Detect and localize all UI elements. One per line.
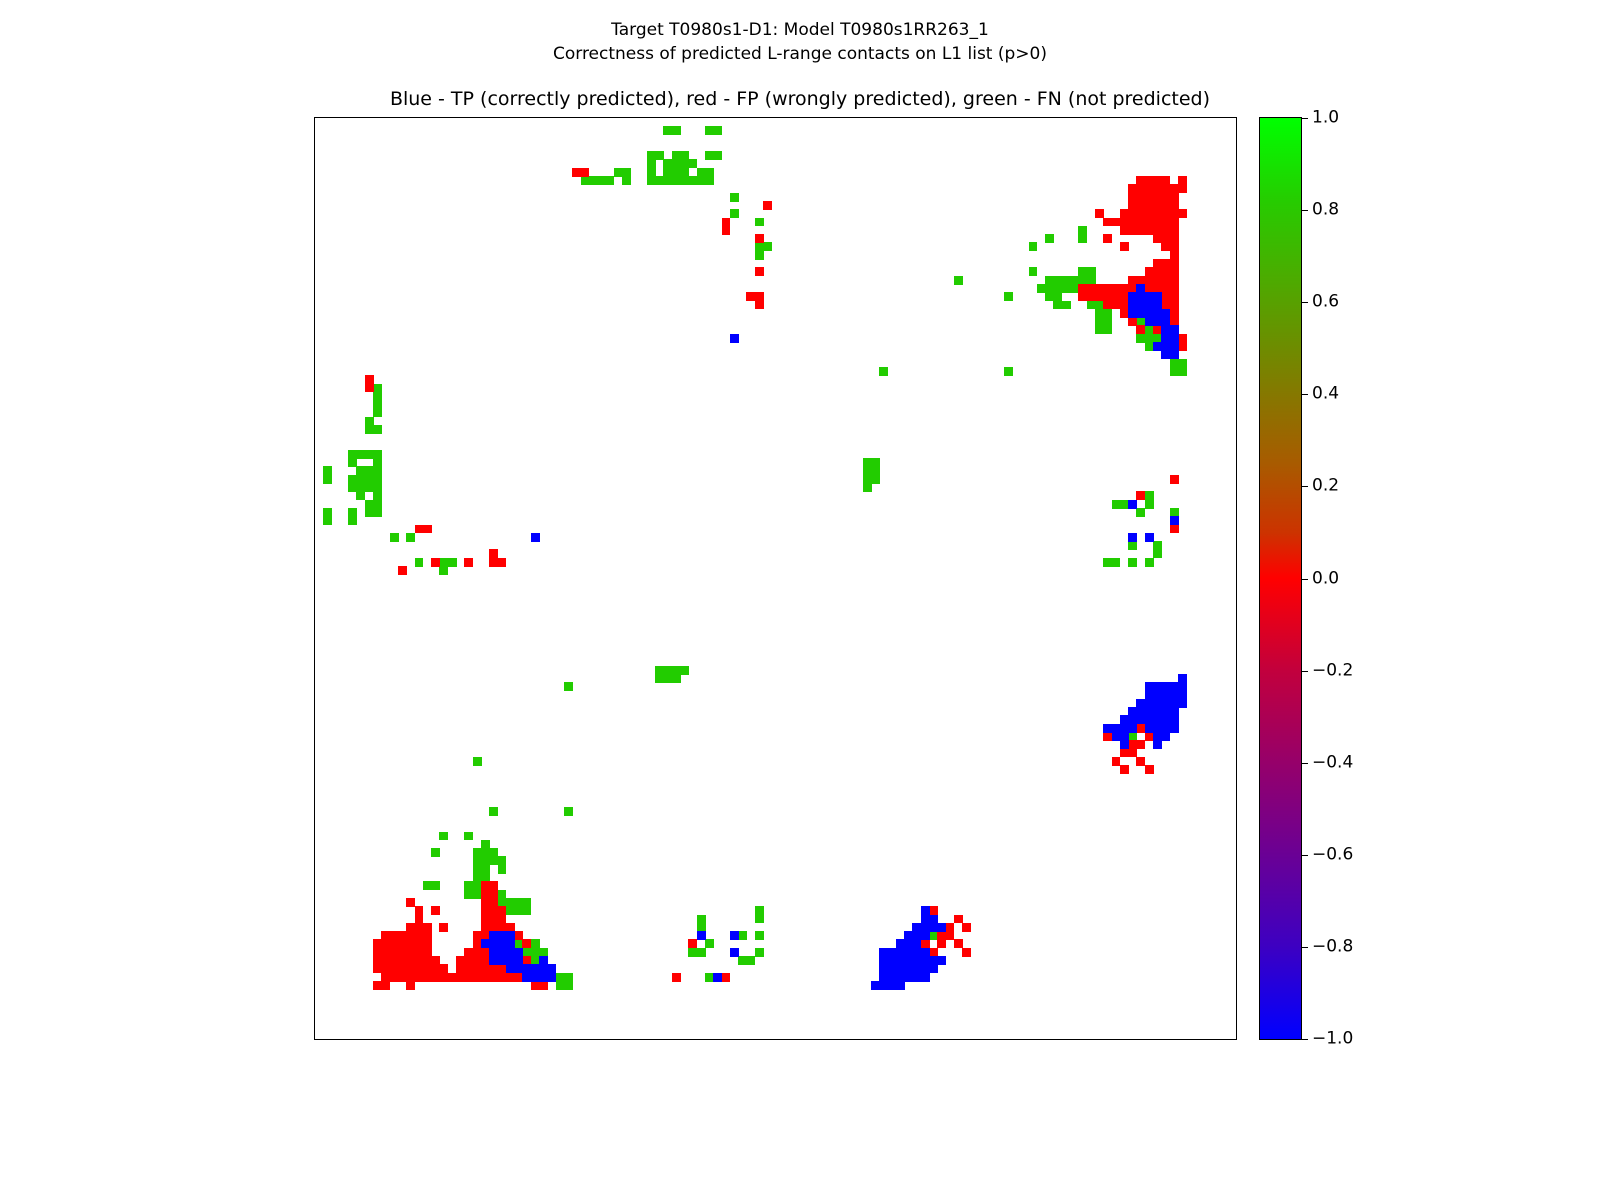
y-axis-tick-right [1236, 155, 1237, 156]
x-axis-tick-top [361, 117, 362, 118]
y-axis-tick [314, 711, 315, 712]
x-axis-tick-top [1165, 117, 1166, 118]
y-axis-tick-right [1236, 827, 1237, 828]
y-axis-tick [314, 139, 315, 140]
cell-tp-blue [730, 931, 739, 940]
colorbar-tick-label: −0.6 [1312, 846, 1353, 863]
y-axis-tick [314, 869, 315, 870]
x-axis-tick [477, 1039, 478, 1040]
x-axis-tick-top [917, 117, 918, 118]
cell-fn-green [365, 450, 374, 459]
y-axis-tick-right [1236, 479, 1237, 480]
cell-fp-red [1136, 491, 1145, 500]
cell-fp-red [672, 973, 681, 982]
cell-fn-green [473, 757, 482, 766]
y-axis-tick-right [1236, 529, 1237, 530]
x-axis-tick-top [551, 117, 552, 118]
x-axis-tick-top [1157, 117, 1158, 118]
x-axis-tick [1049, 1039, 1050, 1040]
colorbar-tick [1301, 763, 1308, 764]
y-axis-tick [314, 686, 315, 687]
cell-fn-green [373, 508, 382, 517]
y-axis-tick-right [1236, 686, 1237, 687]
cell-fp-red [1136, 325, 1145, 334]
x-axis-tick [850, 1039, 851, 1040]
x-axis-tick-top [435, 117, 436, 118]
x-axis-tick [585, 1039, 586, 1040]
cell-tp-blue [1128, 533, 1137, 542]
cell-fn-green [954, 276, 963, 285]
y-axis-tick [314, 861, 315, 862]
cell-fn-green [373, 425, 382, 434]
x-axis-tick-top [510, 117, 511, 118]
y-axis-tick [314, 944, 315, 945]
y-axis-tick [314, 968, 315, 969]
x-axis-tick-top [634, 117, 635, 118]
x-axis-tick [684, 1039, 685, 1040]
y-axis-tick [314, 263, 315, 264]
y-axis-tick-right [1236, 172, 1237, 173]
y-axis-tick [314, 786, 315, 787]
x-axis-tick [941, 1039, 942, 1040]
x-axis-tick-top [585, 117, 586, 118]
y-axis-tick [314, 321, 315, 322]
x-axis-tick [1024, 1039, 1025, 1040]
y-axis-tick-right [1236, 720, 1237, 721]
y-axis-tick-right [1236, 263, 1237, 264]
legend-subtitle: Blue - TP (correctly predicted), red - F… [0, 88, 1600, 110]
x-axis-tick [410, 1039, 411, 1040]
y-axis-tick [314, 454, 315, 455]
cell-fn-green [1170, 367, 1179, 376]
cell-fp-red [439, 923, 448, 932]
figure-root: Target T0980s1-D1: Model T0980s1RR263_1 … [0, 0, 1600, 1200]
x-axis-tick-top [427, 117, 428, 118]
x-axis-tick [717, 1039, 718, 1040]
y-axis-tick [314, 545, 315, 546]
y-axis-tick-right [1236, 852, 1237, 853]
x-axis-tick-top [1224, 117, 1225, 118]
x-axis-tick [510, 1039, 511, 1040]
cell-tp-blue [1128, 500, 1137, 509]
colorbar-tick [1301, 579, 1308, 580]
cell-fn-green [1103, 325, 1112, 334]
y-axis-tick-right [1236, 620, 1237, 621]
cell-fp-red [688, 939, 697, 948]
cell-fp-red [1170, 525, 1179, 534]
y-axis-tick-right [1236, 811, 1237, 812]
y-axis-tick [314, 960, 315, 961]
x-axis-tick-top [850, 117, 851, 118]
x-axis-tick-top [535, 117, 536, 118]
y-axis-tick [314, 993, 315, 994]
y-axis-tick [314, 819, 315, 820]
cell-fn-green [498, 865, 507, 874]
x-axis-tick [626, 1039, 627, 1040]
cell-fp-red [946, 923, 955, 932]
x-axis-tick-top [394, 117, 395, 118]
y-axis-tick [314, 189, 315, 190]
cell-fn-green [647, 168, 656, 177]
y-axis-tick [314, 952, 315, 953]
y-axis-tick-right [1236, 769, 1237, 770]
y-axis-tick [314, 894, 315, 895]
x-axis-tick-top [883, 117, 884, 118]
cell-fn-green [672, 674, 681, 683]
y-axis-tick [314, 744, 315, 745]
x-axis-tick-top [319, 117, 320, 118]
y-axis-tick [314, 462, 315, 463]
cell-tp-blue [921, 931, 930, 940]
x-axis-tick-top [485, 117, 486, 118]
y-axis-tick-right [1236, 139, 1237, 140]
y-axis-tick-right [1236, 363, 1237, 364]
x-axis-tick-top [1091, 117, 1092, 118]
cell-fn-green [1078, 234, 1087, 243]
x-axis-tick-top [601, 117, 602, 118]
y-axis-tick [314, 272, 315, 273]
x-axis-tick [1190, 1039, 1191, 1040]
cell-fp-red [1170, 475, 1179, 484]
y-axis-tick [314, 844, 315, 845]
y-axis-tick [314, 811, 315, 812]
cell-fn-green [755, 931, 764, 940]
colorbar-tick [1301, 210, 1308, 211]
y-axis-tick [314, 496, 315, 497]
x-axis-tick [568, 1039, 569, 1040]
cell-tp-blue [1178, 699, 1187, 708]
x-axis-tick-top [527, 117, 528, 118]
cell-tp-blue [921, 973, 930, 982]
y-axis-tick [314, 703, 315, 704]
x-axis-tick [1207, 1039, 1208, 1040]
y-axis-tick [314, 1018, 315, 1019]
x-axis-tick-top [1074, 117, 1075, 118]
cell-fn-green [746, 956, 755, 965]
cell-fp-red [365, 384, 374, 393]
cell-fn-green [431, 848, 440, 857]
x-axis-tick-top [800, 117, 801, 118]
x-axis-tick-top [1049, 117, 1050, 118]
cell-fn-green [705, 168, 714, 177]
cell-fp-red [431, 906, 440, 915]
cell-tp-blue [937, 956, 946, 965]
cell-fn-green [1128, 541, 1137, 550]
x-axis-tick-top [1182, 117, 1183, 118]
x-axis-tick [419, 1039, 420, 1040]
y-axis-tick [314, 612, 315, 613]
x-axis-tick-top [452, 117, 453, 118]
y-axis-tick-right [1236, 421, 1237, 422]
cell-fn-green [680, 666, 689, 675]
x-axis-tick [1224, 1039, 1225, 1040]
x-axis-tick [659, 1039, 660, 1040]
x-axis-tick-top [1174, 117, 1175, 118]
x-axis-tick [1141, 1039, 1142, 1040]
x-axis-tick-top [1141, 117, 1142, 118]
y-axis-tick [314, 197, 315, 198]
y-axis-tick [314, 645, 315, 646]
y-axis-tick-right [1236, 122, 1237, 123]
x-axis-tick-top [834, 117, 835, 118]
y-axis-tick [314, 637, 315, 638]
cell-fn-green [431, 881, 440, 890]
contact-map-plot[interactable]: 1133557799111113131515171719192121232325… [314, 117, 1237, 1040]
y-axis-tick-right [1236, 346, 1237, 347]
y-axis-tick-right [1236, 637, 1237, 638]
x-axis-tick [693, 1039, 694, 1040]
cell-fn-green [1153, 549, 1162, 558]
y-axis-tick [314, 720, 315, 721]
cell-fn-green [1004, 292, 1013, 301]
cell-fp-red [539, 981, 548, 990]
cell-fn-green [1178, 367, 1187, 376]
x-axis-tick [817, 1039, 818, 1040]
x-axis-tick-top [1058, 117, 1059, 118]
x-axis-tick-top [502, 117, 503, 118]
y-axis-tick-right [1236, 944, 1237, 945]
x-axis-tick [1107, 1039, 1108, 1040]
x-axis-tick-top [1207, 117, 1208, 118]
x-axis-tick [1008, 1039, 1009, 1040]
x-axis-tick [551, 1039, 552, 1040]
y-axis-tick [314, 985, 315, 986]
y-axis-tick-right [1236, 230, 1237, 231]
y-axis-tick-right [1236, 968, 1237, 969]
x-axis-tick [825, 1039, 826, 1040]
y-axis-tick-right [1236, 861, 1237, 862]
x-axis-tick-top [410, 117, 411, 118]
x-axis-tick [834, 1039, 835, 1040]
x-axis-tick-top [1215, 117, 1216, 118]
y-axis-tick [314, 255, 315, 256]
y-axis-tick-right [1236, 645, 1237, 646]
y-axis-tick [314, 413, 315, 414]
cell-fp-red [431, 973, 440, 982]
x-axis-tick-top [1149, 117, 1150, 118]
y-axis-tick-right [1236, 927, 1237, 928]
x-axis-tick [958, 1039, 959, 1040]
colorbar-tick-label: −0.8 [1312, 938, 1353, 955]
y-axis-tick [314, 421, 315, 422]
y-axis-tick [314, 554, 315, 555]
y-axis-tick-right [1236, 496, 1237, 497]
cell-fn-green [663, 176, 672, 185]
x-axis-tick [352, 1039, 353, 1040]
y-axis-tick [314, 927, 315, 928]
y-axis-tick-right [1236, 537, 1237, 538]
y-axis-tick [314, 570, 315, 571]
y-axis-tick [314, 562, 315, 563]
y-axis-tick-right [1236, 562, 1237, 563]
x-axis-tick [527, 1039, 528, 1040]
cell-fn-green [439, 832, 448, 841]
y-axis-tick-right [1236, 952, 1237, 953]
y-axis-tick-right [1236, 288, 1237, 289]
cell-tp-blue [1170, 350, 1179, 359]
x-axis-tick [933, 1039, 934, 1040]
cell-fn-green [705, 176, 714, 185]
x-axis-tick [676, 1039, 677, 1040]
x-axis-tick-top [858, 117, 859, 118]
colorbar-tick [1301, 947, 1308, 948]
x-axis-tick-top [1116, 117, 1117, 118]
y-axis-tick [314, 670, 315, 671]
cell-fp-red [962, 948, 971, 957]
x-axis-tick [593, 1039, 594, 1040]
x-axis-tick [543, 1039, 544, 1040]
y-axis-tick [314, 728, 315, 729]
y-axis-tick-right [1236, 429, 1237, 430]
y-axis-tick [314, 230, 315, 231]
cell-fn-green [713, 151, 722, 160]
y-axis-tick [314, 180, 315, 181]
x-axis-tick-top [668, 117, 669, 118]
y-axis-tick-right [1236, 678, 1237, 679]
y-axis-tick-right [1236, 413, 1237, 414]
x-axis-tick [734, 1039, 735, 1040]
y-axis-tick [314, 487, 315, 488]
cell-fn-green [1112, 558, 1121, 567]
y-axis-tick [314, 761, 315, 762]
x-axis-tick [377, 1039, 378, 1040]
x-axis-tick [634, 1039, 635, 1040]
y-axis-tick [314, 164, 315, 165]
x-axis-tick-top [1033, 117, 1034, 118]
x-axis-tick [452, 1039, 453, 1040]
cell-fp-red [498, 558, 507, 567]
x-axis-tick-top [676, 117, 677, 118]
cell-tp-blue [1128, 292, 1137, 301]
x-axis-tick [883, 1039, 884, 1040]
y-axis-tick-right [1236, 321, 1237, 322]
cell-fn-green [1029, 242, 1038, 251]
x-axis-tick-top [925, 117, 926, 118]
title-line-2: Correctness of predicted L-range contact… [0, 42, 1600, 66]
cell-fn-green [713, 126, 722, 135]
y-axis-tick-right [1236, 197, 1237, 198]
x-axis-tick [1174, 1039, 1175, 1040]
y-axis-tick-right [1236, 272, 1237, 273]
cell-tp-blue [1153, 740, 1162, 749]
x-axis-tick [651, 1039, 652, 1040]
y-axis-tick-right [1236, 189, 1237, 190]
colorbar-tick [1301, 302, 1308, 303]
y-axis-tick [314, 778, 315, 779]
x-axis-tick [610, 1039, 611, 1040]
cell-fn-green [1128, 558, 1137, 567]
y-axis-tick [314, 803, 315, 804]
cell-fn-green [464, 832, 473, 841]
x-axis-tick [427, 1039, 428, 1040]
x-axis-tick [908, 1039, 909, 1040]
x-axis-tick [1033, 1039, 1034, 1040]
y-axis-tick-right [1236, 180, 1237, 181]
y-axis-tick-right [1236, 877, 1237, 878]
cell-fn-green [663, 168, 672, 177]
x-axis-tick [1157, 1039, 1158, 1040]
y-axis-tick-right [1236, 487, 1237, 488]
cell-tp-blue [730, 334, 739, 343]
colorbar-tick [1301, 1039, 1308, 1040]
x-axis-tick-top [958, 117, 959, 118]
y-axis-tick [314, 504, 315, 505]
x-axis-tick-top [402, 117, 403, 118]
cell-fn-green [1095, 325, 1104, 334]
x-axis-tick [444, 1039, 445, 1040]
y-axis-tick [314, 520, 315, 521]
cell-fn-green [439, 566, 448, 575]
x-axis-tick [435, 1039, 436, 1040]
x-axis-tick-top [908, 117, 909, 118]
x-axis-tick-top [776, 117, 777, 118]
x-axis-tick-top [966, 117, 967, 118]
x-axis-tick-top [593, 117, 594, 118]
x-axis-tick [759, 1039, 760, 1040]
x-axis-tick [394, 1039, 395, 1040]
colorbar-tick-label: 0.6 [1312, 294, 1339, 311]
x-axis-tick-top [701, 117, 702, 118]
x-axis-tick [1091, 1039, 1092, 1040]
x-axis-tick [668, 1039, 669, 1040]
x-axis-tick-top [1083, 117, 1084, 118]
y-axis-tick-right [1236, 296, 1237, 297]
cell-tp-blue [547, 973, 556, 982]
y-axis-tick-right [1236, 330, 1237, 331]
y-axis-tick [314, 852, 315, 853]
y-axis-tick [314, 371, 315, 372]
x-axis-tick-top [759, 117, 760, 118]
y-axis-tick-right [1236, 836, 1237, 837]
cell-fp-red [722, 226, 731, 235]
x-axis-tick-top [643, 117, 644, 118]
x-axis-tick [950, 1039, 951, 1040]
cell-fp-red [431, 558, 440, 567]
y-axis-tick [314, 587, 315, 588]
y-axis-tick-right [1236, 545, 1237, 546]
y-axis-tick [314, 247, 315, 248]
y-axis-tick [314, 130, 315, 131]
colorbar-tick [1301, 486, 1308, 487]
x-axis-tick [701, 1039, 702, 1040]
x-axis-tick-top [809, 117, 810, 118]
x-axis-tick-top [610, 117, 611, 118]
y-axis-tick [314, 1002, 315, 1003]
x-axis-tick-top [626, 117, 627, 118]
y-axis-tick [314, 388, 315, 389]
x-axis-tick-top [875, 117, 876, 118]
cell-fp-red [763, 201, 772, 210]
x-axis-tick [576, 1039, 577, 1040]
cell-fn-green [1062, 301, 1071, 310]
y-axis-tick [314, 305, 315, 306]
y-axis-tick [314, 155, 315, 156]
x-axis-tick [386, 1039, 387, 1040]
x-axis-tick-top [659, 117, 660, 118]
x-axis-tick [751, 1039, 752, 1040]
y-axis-tick-right [1236, 147, 1237, 148]
x-axis-tick [892, 1039, 893, 1040]
y-axis-tick-right [1236, 960, 1237, 961]
colorbar-tick [1301, 671, 1308, 672]
cell-fn-green [406, 533, 415, 542]
y-axis-tick-right [1236, 977, 1237, 978]
cell-fp-red [1095, 209, 1104, 218]
cell-fn-green [522, 898, 531, 907]
colorbar-tick-label: 0.0 [1312, 570, 1339, 587]
x-axis-tick [800, 1039, 801, 1040]
cell-fp-red [423, 525, 432, 534]
